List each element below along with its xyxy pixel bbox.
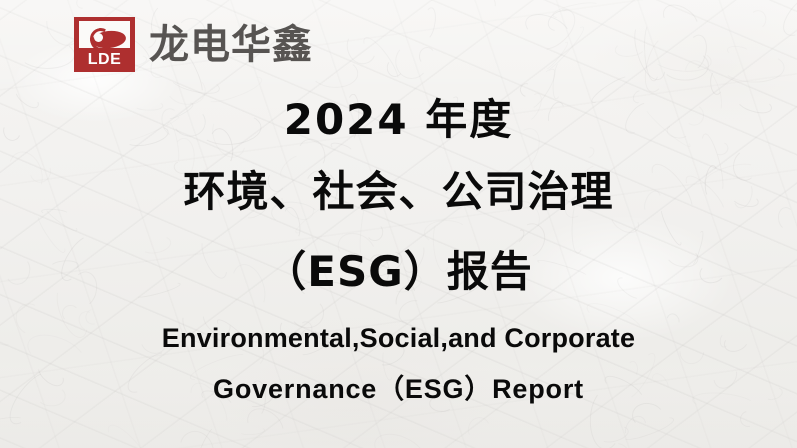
cover-title-cn-primary: 环境、社会、公司治理 <box>0 152 797 232</box>
logo-mark-label: LDE <box>74 50 135 69</box>
cover-title-en-primary: Environmental,Social,and Corporate <box>0 312 797 364</box>
cover-title-block: 2024 年度 环境、社会、公司治理 （ESG）报告 Environmental… <box>0 88 797 414</box>
brand-wordmark: 龙电华鑫 <box>149 22 313 68</box>
crescent-notch-icon <box>94 33 103 42</box>
report-cover-page: LDE 龙电华鑫 2024 年度 环境、社会、公司治理 （ESG）报告 Envi… <box>0 0 797 448</box>
cover-title-year: 2024 年度 <box>0 88 797 152</box>
logo-mark-window <box>79 21 130 48</box>
lde-logo-mark: LDE <box>74 17 135 72</box>
cover-title-cn-secondary: （ESG）报告 <box>0 232 797 312</box>
cover-title-en-secondary: Governance（ESG）Report <box>0 364 797 414</box>
brand-logo-lockup: LDE 龙电华鑫 <box>74 17 313 72</box>
